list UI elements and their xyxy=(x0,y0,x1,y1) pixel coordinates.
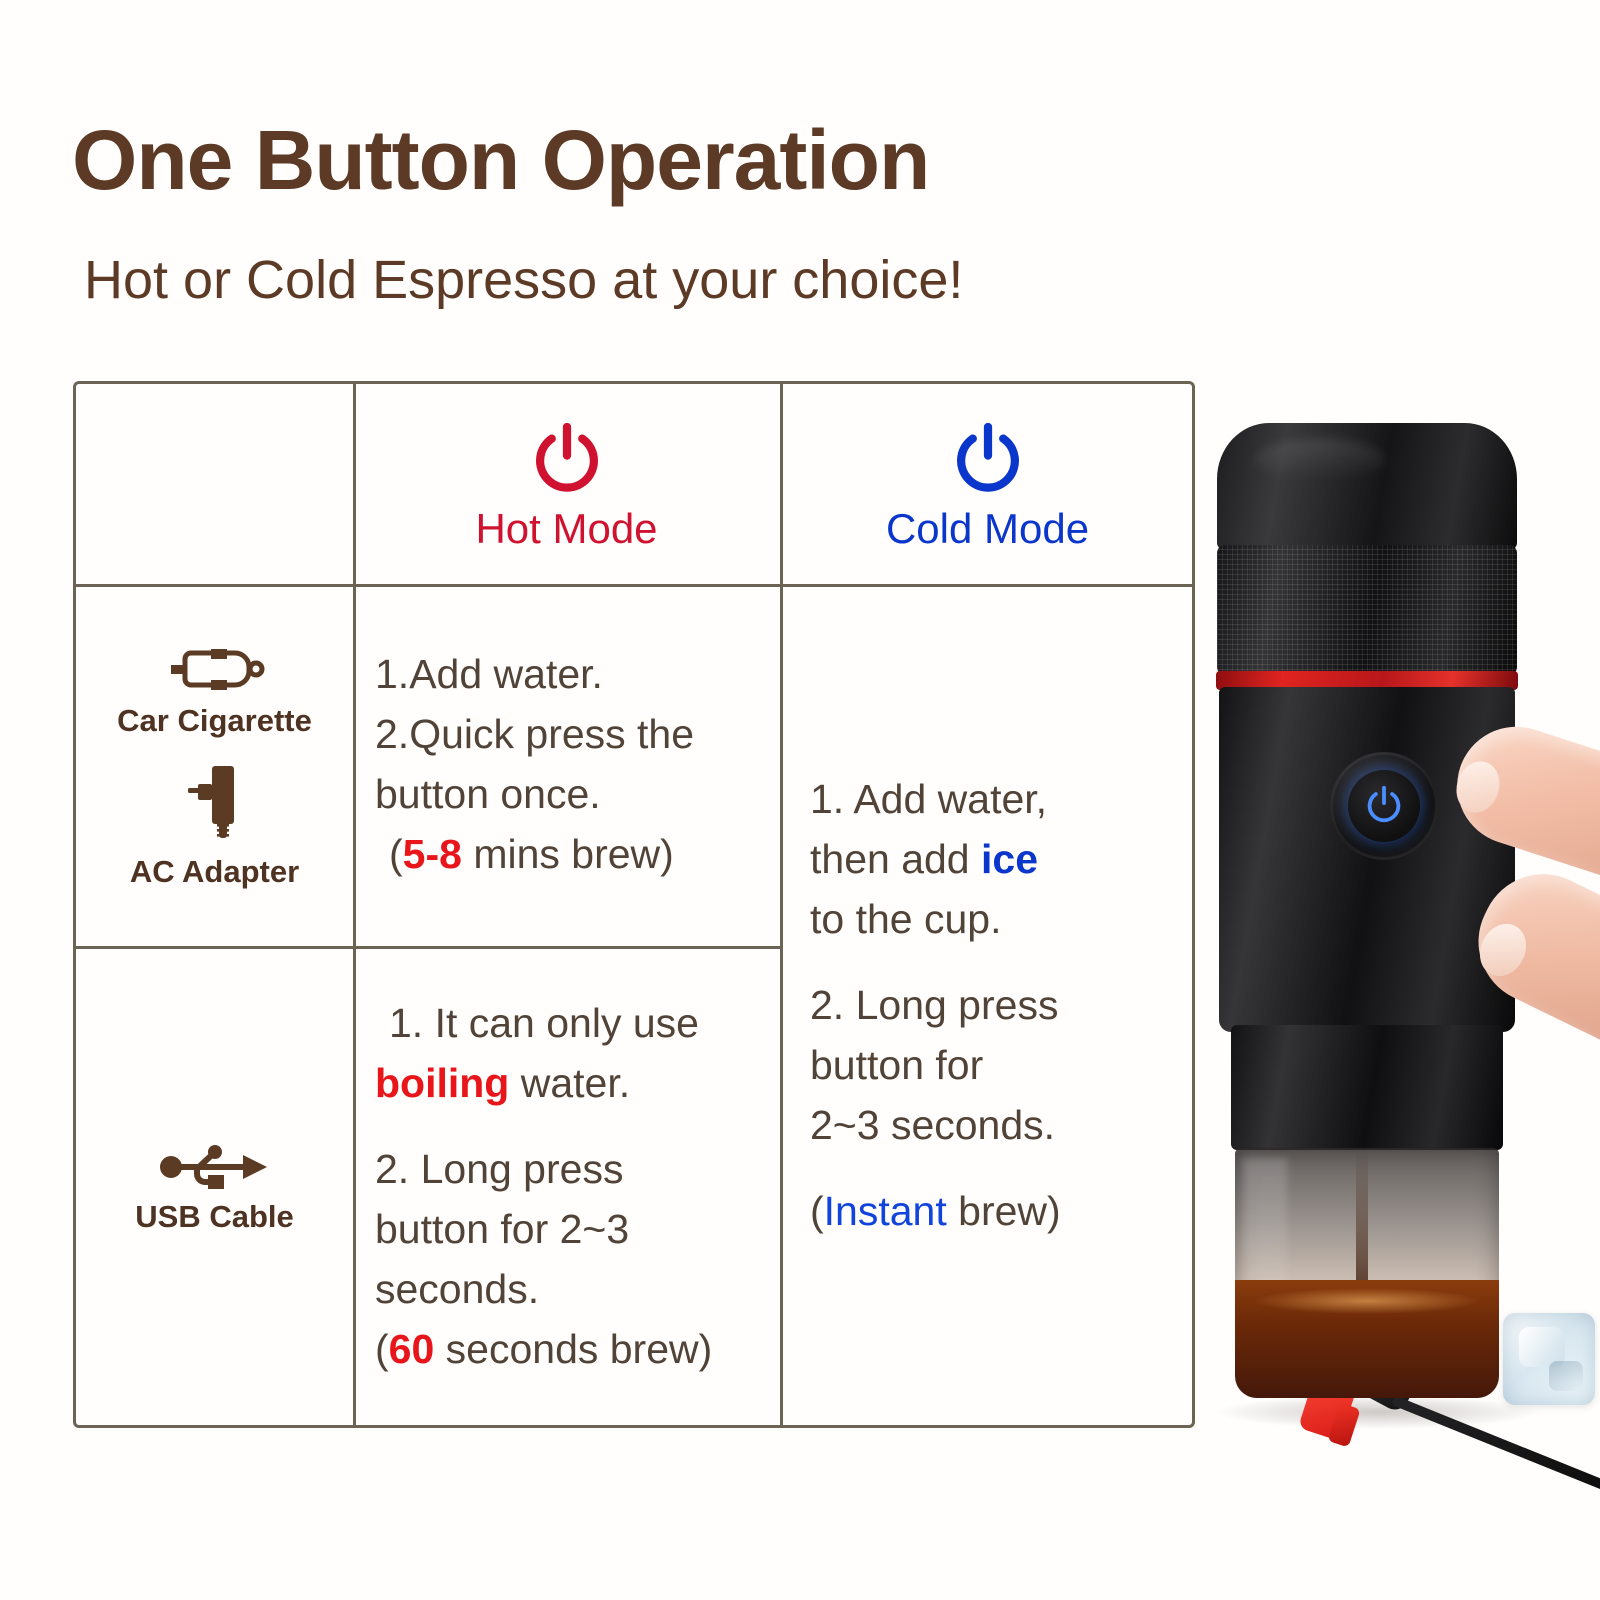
table-header-cold-mode: Cold Mode xyxy=(780,384,1195,584)
brew-time-note: (60 seconds brew) xyxy=(375,1320,760,1380)
power-source-label: Car Cigarette xyxy=(117,705,312,736)
main-body xyxy=(1219,687,1515,1032)
instruction-line: boiling water. xyxy=(375,1054,760,1114)
power-source-label: AC Adapter xyxy=(130,856,299,887)
power-source-cell-row1: Car Cigarette xyxy=(76,584,353,946)
instruction-line: 1.Add water. xyxy=(375,645,760,705)
coffee-stream xyxy=(1356,1148,1368,1298)
product-image xyxy=(1195,395,1600,1465)
power-source-usb-cable: USB Cable xyxy=(135,1143,293,1232)
instruction-line: button once. xyxy=(375,765,760,825)
usb-icon xyxy=(159,1143,269,1191)
instruction-line: button for 2~3 xyxy=(375,1200,760,1260)
power-source-label: USB Cable xyxy=(135,1201,293,1232)
brew-time-unit: brew) xyxy=(947,1188,1061,1234)
knurled-grip-band xyxy=(1217,545,1517,675)
instruction-line: 2. Long press xyxy=(375,1140,760,1200)
power-icon xyxy=(945,418,1031,504)
power-button-glyph-icon xyxy=(1361,783,1407,829)
power-source-cell-row2: USB Cable xyxy=(76,946,353,1428)
paren-open: ( xyxy=(375,1326,389,1372)
cold-mode-instructions: 1. Add water, then add ice to the cup. 2… xyxy=(780,584,1195,1428)
cold-mode-label: Cold Mode xyxy=(886,508,1089,550)
ac-adapter-icon xyxy=(184,762,246,846)
paren-open: ( xyxy=(810,1188,824,1234)
car-cigarette-plug-icon xyxy=(163,643,267,695)
instruction-line: 2.Quick press the xyxy=(375,705,760,765)
power-source-ac-adapter: AC Adapter xyxy=(130,762,299,887)
brew-time-value: Instant xyxy=(824,1188,947,1234)
power-source-car-cigarette: Car Cigarette xyxy=(117,643,312,736)
operation-modes-table: Hot Mode Cold Mode xyxy=(73,381,1195,1428)
instruction-line: 2~3 seconds. xyxy=(810,1096,1175,1156)
instruction-line: seconds. xyxy=(375,1260,760,1320)
transparent-coffee-cup xyxy=(1235,1148,1499,1398)
paren-open: ( xyxy=(389,831,403,877)
page-title: One Button Operation xyxy=(72,118,929,202)
instruction-line: 2. Long press xyxy=(810,976,1175,1036)
brew-time-value: 60 xyxy=(389,1326,435,1372)
emphasis-ice: ice xyxy=(981,836,1038,882)
ice-cube xyxy=(1503,1313,1595,1405)
brew-time-value: 5-8 xyxy=(403,831,462,877)
instruction-line: 1. Add water, xyxy=(810,770,1175,830)
instruction-line: then add ice xyxy=(810,830,1175,890)
brewed-coffee xyxy=(1235,1280,1499,1398)
hot-mode-instructions-row1: 1.Add water. 2.Quick press the button on… xyxy=(353,584,780,946)
emphasis-boiling: boiling xyxy=(375,1060,509,1106)
instruction-line: button for xyxy=(810,1036,1175,1096)
brew-time-note: (5-8 mins brew) xyxy=(375,825,760,885)
top-cap xyxy=(1217,423,1517,551)
brew-time-unit: mins brew) xyxy=(462,831,674,877)
lower-housing xyxy=(1231,1025,1503,1150)
hot-mode-instructions-row2: 1. It can only use boiling water. 2. Lon… xyxy=(353,946,780,1428)
infographic-root: One Button Operation Hot or Cold Espress… xyxy=(0,0,1600,1600)
instruction-rest: water. xyxy=(509,1060,630,1106)
table-header-hot-mode: Hot Mode xyxy=(353,384,780,584)
brew-time-unit: seconds brew) xyxy=(434,1326,712,1372)
table-header-source-cell xyxy=(76,384,353,584)
instruction-pre: then add xyxy=(810,836,981,882)
brew-time-note: (Instant brew) xyxy=(810,1182,1175,1242)
instruction-line: to the cup. xyxy=(810,890,1175,950)
hot-mode-label: Hot Mode xyxy=(475,508,657,550)
instruction-line: 1. It can only use xyxy=(375,994,760,1054)
cap-highlight xyxy=(1255,439,1385,481)
page-subtitle: Hot or Cold Espresso at your choice! xyxy=(84,253,963,307)
power-icon xyxy=(524,418,610,504)
